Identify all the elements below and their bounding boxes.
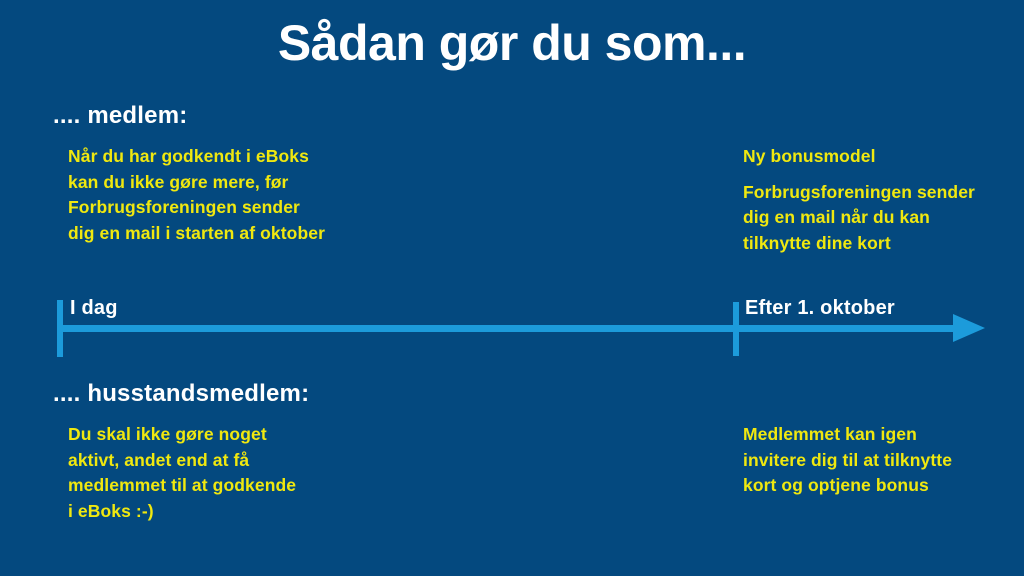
text-line: Når du har godkendt i eBoks xyxy=(68,144,325,170)
text-line: Forbrugsforeningen sender xyxy=(68,195,325,221)
timeline-label-today: I dag xyxy=(70,296,118,320)
timeline-tick-october xyxy=(733,302,739,356)
section-heading-husstandsmedlem: .... husstandsmedlem: xyxy=(53,379,309,409)
text-line: medlemmet til at godkende xyxy=(68,473,296,499)
slide-canvas: Sådan gør du som... .... medlem: Når du … xyxy=(0,0,1024,576)
text-line: aktivt, andet end at få xyxy=(68,448,296,474)
page-title: Sådan gør du som... xyxy=(0,14,1024,72)
member-left-text-block: Når du har godkendt i eBoks kan du ikke … xyxy=(68,144,325,246)
text-line: dig en mail i starten af oktober xyxy=(68,221,325,247)
new-bonus-model-title: Ny bonusmodel xyxy=(743,144,975,170)
text-line: tilknytte dine kort xyxy=(743,231,975,257)
member-right-text-block: Ny bonusmodel Forbrugsforeningen sender … xyxy=(743,144,975,256)
text-line: i eBoks :-) xyxy=(68,499,296,525)
timeline-axis-line xyxy=(57,325,962,332)
text-line: invitere dig til at tilknytte xyxy=(743,448,952,474)
text-line: Du skal ikke gøre noget xyxy=(68,422,296,448)
timeline-arrow-icon xyxy=(953,314,985,342)
text-line: dig en mail når du kan xyxy=(743,205,975,231)
text-line: Medlemmet kan igen xyxy=(743,422,952,448)
paragraph-spacer xyxy=(743,170,975,180)
text-line: kort og optjene bonus xyxy=(743,473,952,499)
section-heading-medlem: .... medlem: xyxy=(53,101,187,131)
text-line: Forbrugsforeningen sender xyxy=(743,180,975,206)
timeline-tick-today xyxy=(57,300,63,357)
household-left-text-block: Du skal ikke gøre noget aktivt, andet en… xyxy=(68,422,296,524)
timeline-label-october: Efter 1. oktober xyxy=(745,296,895,320)
text-line: kan du ikke gøre mere, før xyxy=(68,170,325,196)
household-right-text-block: Medlemmet kan igen invitere dig til at t… xyxy=(743,422,952,499)
